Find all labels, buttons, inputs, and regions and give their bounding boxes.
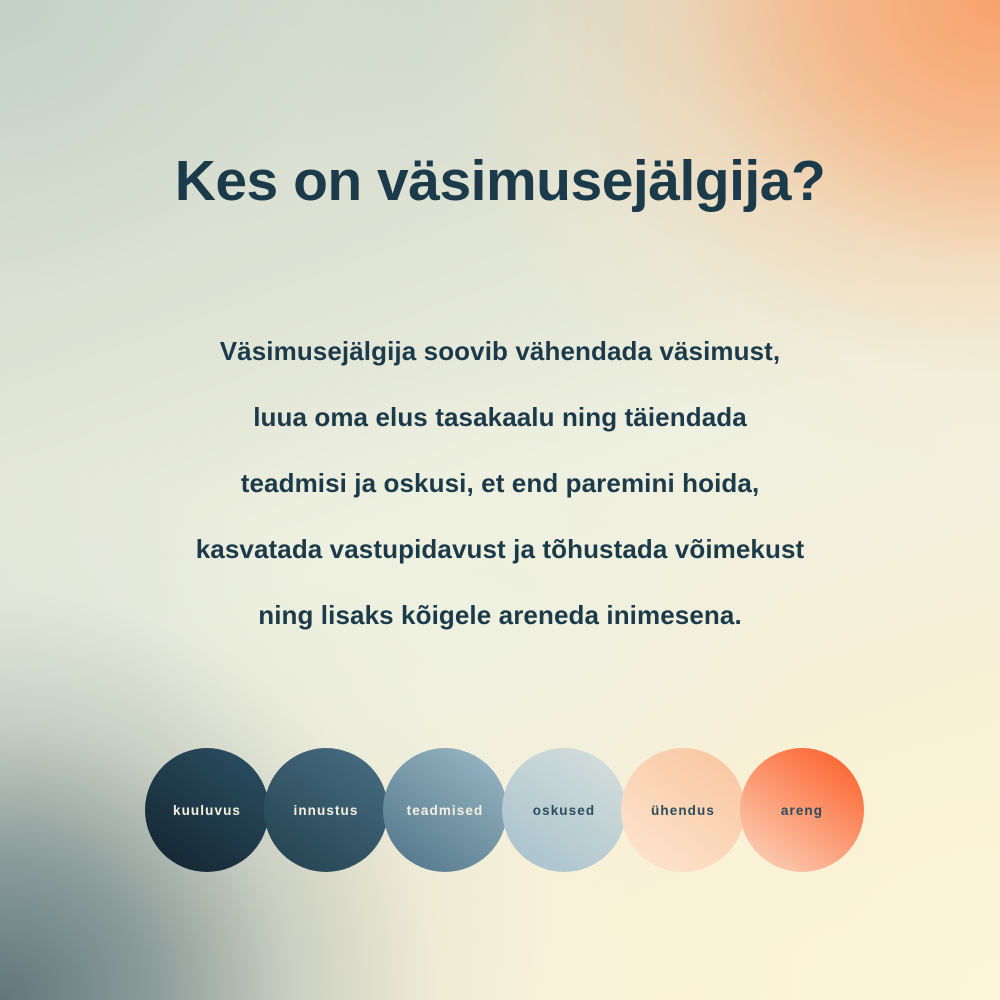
value-circle-areng: areng [740,748,864,872]
body-line: ning lisaks kõigele areneda inimesena. [0,582,1000,648]
page-title: Kes on väsimusejälgija? [0,152,1000,212]
poster-content: Kes on väsimusejälgija? Väsimusejälgija … [0,0,1000,1000]
value-circle-label: kuuluvus [173,803,241,818]
value-circles-row: kuuluvus innustus teadmised oskused ühen… [145,748,866,874]
body-paragraph: Väsimusejälgija soovib vähendada väsimus… [0,318,1000,648]
value-circle-label: teadmised [407,803,484,818]
value-circle-kuuluvus: kuuluvus [145,748,269,872]
body-line: Väsimusejälgija soovib vähendada väsimus… [0,318,1000,384]
body-line: teadmisi ja oskusi, et end paremini hoid… [0,450,1000,516]
body-line: kasvatada vastupidavust ja tõhustada või… [0,516,1000,582]
value-circle-label: ühendus [651,803,715,818]
value-circle-uhendus: ühendus [621,748,745,872]
value-circle-innustus: innustus [264,748,388,872]
body-line: luua oma elus tasakaalu ning täiendada [0,384,1000,450]
value-circle-label: innustus [293,803,358,818]
value-circle-label: areng [781,803,823,818]
poster-canvas: Kes on väsimusejälgija? Väsimusejälgija … [0,0,1000,1000]
value-circle-teadmised: teadmised [383,748,507,872]
value-circle-label: oskused [533,803,595,818]
value-circle-oskused: oskused [502,748,626,872]
